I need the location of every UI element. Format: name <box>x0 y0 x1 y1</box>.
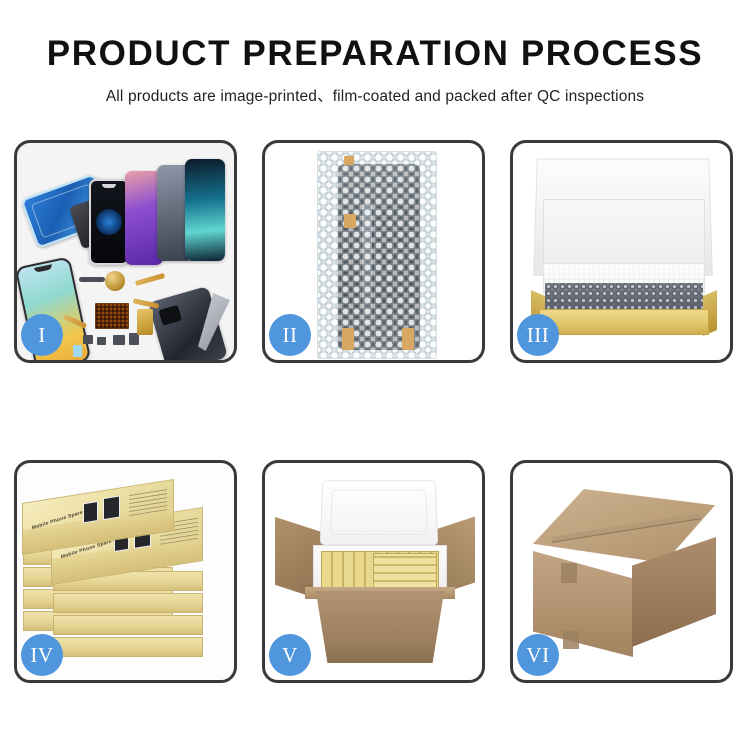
bubble-wrap-bag <box>317 151 437 359</box>
step-badge-1: I <box>21 314 63 356</box>
stacked-box-layer-6 <box>53 615 203 635</box>
gold-connector-a <box>137 309 153 335</box>
step-badge-5: V <box>269 634 311 676</box>
black-display-assembly <box>89 179 129 265</box>
teal-phone <box>185 159 225 261</box>
yellow-boxes-row-b <box>373 553 437 589</box>
process-step-grid: I II III <box>14 140 737 723</box>
stacked-box-layer-5 <box>53 637 203 657</box>
box-spec-lines-top <box>129 488 167 516</box>
process-step-panel-3[interactable]: III <box>510 140 733 363</box>
carton-handle-tab-lower <box>563 631 579 649</box>
process-step-panel-5[interactable]: V <box>262 460 485 683</box>
tape-piece-bottom-right <box>402 328 414 350</box>
speaker-part <box>79 277 105 282</box>
tape-piece-top <box>344 156 354 165</box>
stacked-box-layer-7 <box>53 593 203 613</box>
step-badge-6: VI <box>517 634 559 676</box>
page-header: PRODUCT PREPARATION PROCESS All products… <box>0 0 750 106</box>
step-badge-3: III <box>517 314 559 356</box>
bubble-texture-back <box>318 152 436 358</box>
step-badge-4: IV <box>21 634 63 676</box>
page-title: PRODUCT PREPARATION PROCESS <box>0 36 750 73</box>
flex-cable-a <box>135 273 165 286</box>
box-front-panel <box>539 309 709 335</box>
carton-front-panel <box>307 591 453 663</box>
ic-chip-array <box>95 303 129 329</box>
small-chip-c <box>113 335 125 345</box>
step-badge-2: II <box>269 314 311 356</box>
small-chip-b <box>97 337 106 345</box>
process-step-panel-1[interactable]: I <box>14 140 237 363</box>
process-step-panel-4[interactable]: Mobile Phone Spare Parts Mobile Phone Sp… <box>14 460 237 683</box>
tape-piece-bottom-left <box>342 328 354 350</box>
process-step-panel-6[interactable]: VI <box>510 460 733 683</box>
tape-piece-mid <box>344 214 356 228</box>
battery-part <box>73 345 82 357</box>
carton-handle-tab-upper <box>561 563 577 583</box>
page-subtitle: All products are image-printed、film-coat… <box>0 84 750 106</box>
gold-component-icon <box>105 271 125 291</box>
box-screen-graphic-d <box>103 496 120 521</box>
box-screen-graphic-c <box>83 501 98 523</box>
process-step-panel-2[interactable]: II <box>262 140 485 363</box>
foam-box-lid <box>320 480 439 545</box>
small-chip-a <box>83 335 93 344</box>
